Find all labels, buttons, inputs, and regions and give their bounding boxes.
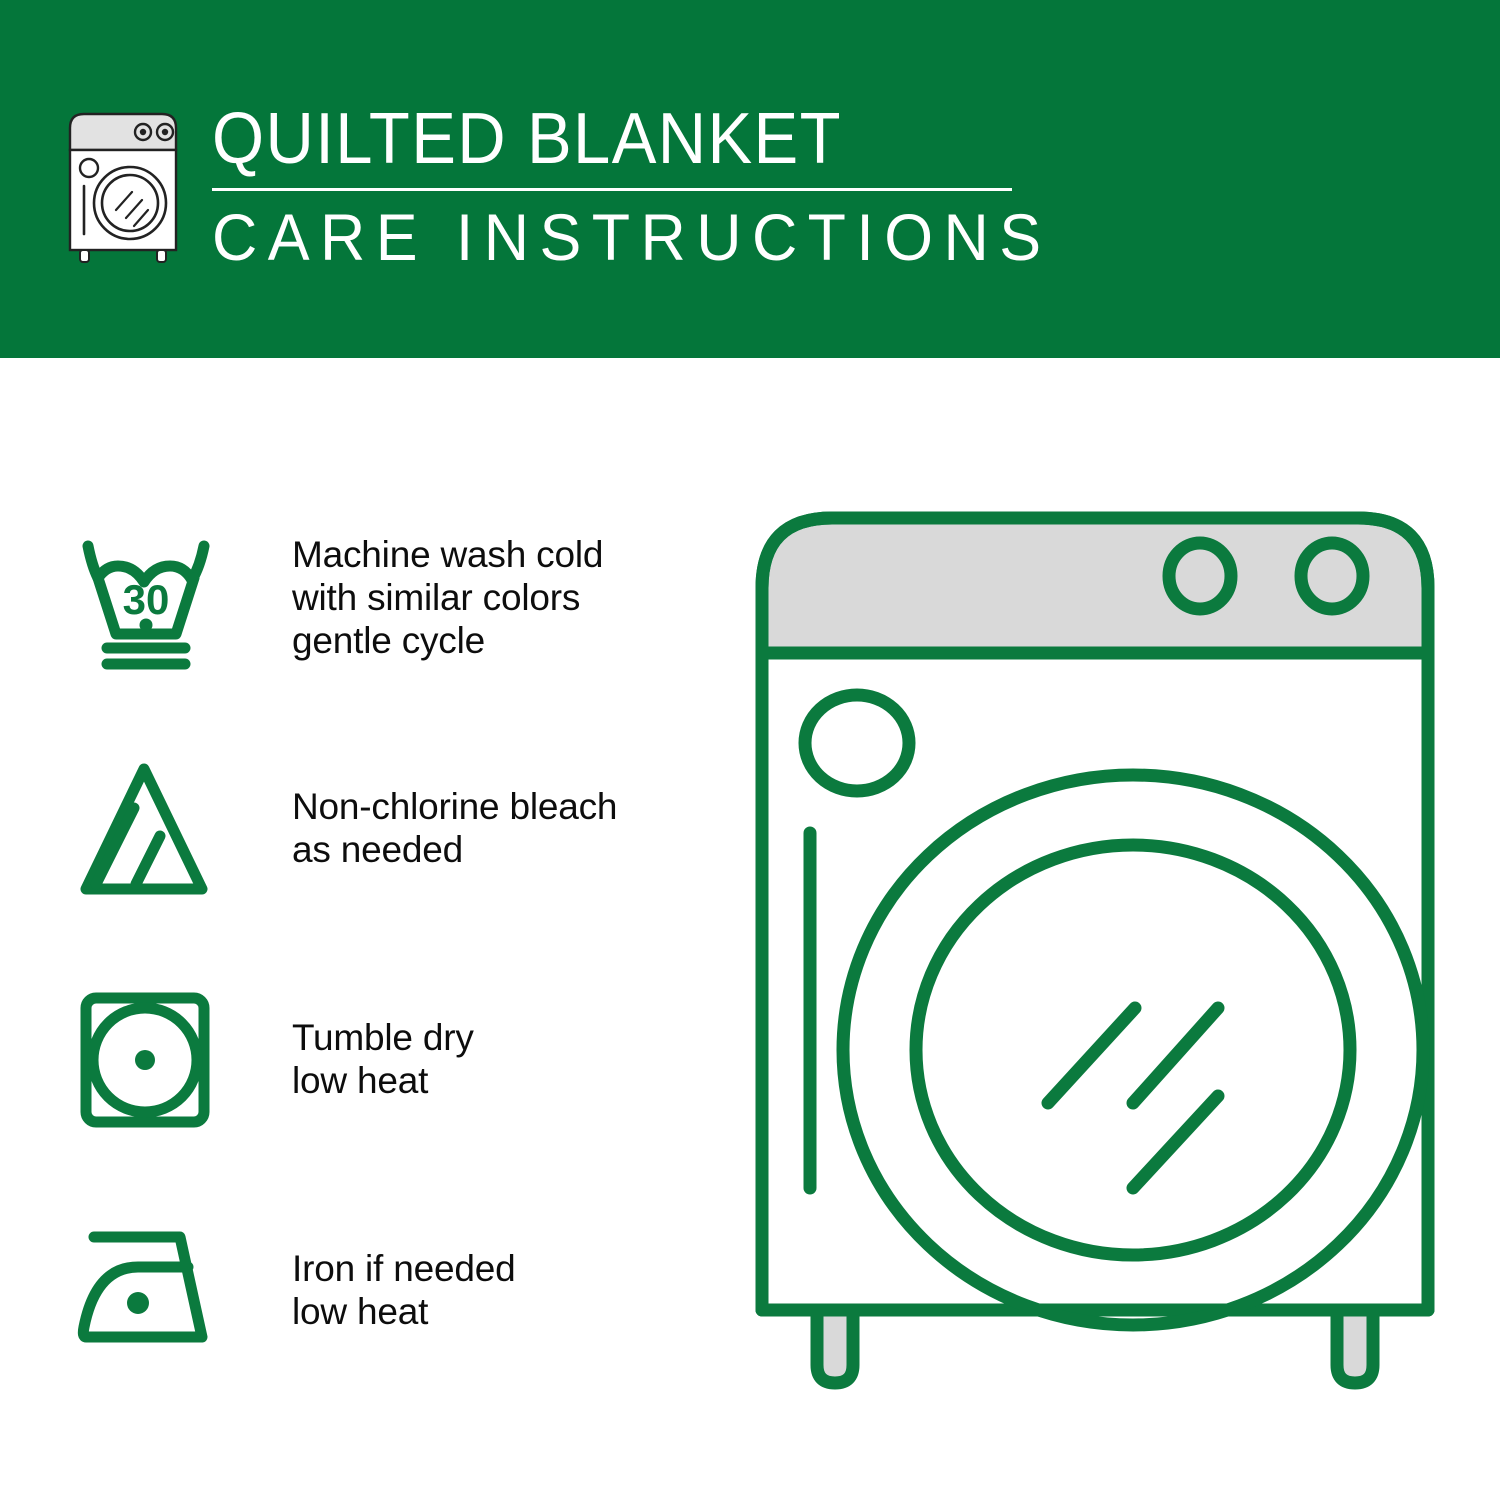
care-item-iron-label: Iron if needed low heat xyxy=(292,1247,515,1333)
wash-tub-30-icon: 30 xyxy=(72,522,240,672)
header-band: QUILTED BLANKET CARE INSTRUCTIONS xyxy=(0,0,1500,358)
care-item-tumble-dry: Tumble dry low heat xyxy=(72,970,712,1148)
leg-left xyxy=(817,1310,853,1383)
iron-icon xyxy=(72,1215,240,1365)
title-divider xyxy=(212,188,1012,191)
care-item-tumble-dry-label: Tumble dry low heat xyxy=(292,1016,474,1102)
header-titles: QUILTED BLANKET CARE INSTRUCTIONS xyxy=(212,100,1096,273)
bleach-triangle-icon xyxy=(72,753,240,903)
leg-right xyxy=(1337,1310,1373,1383)
care-item-bleach: Non-chlorine bleach as needed xyxy=(72,739,712,917)
wash-temperature-value: 30 xyxy=(123,576,170,623)
tumble-dry-icon xyxy=(72,984,240,1134)
care-symbol-list: 30 Machine wash cold with similar colors… xyxy=(72,508,712,1379)
care-item-bleach-label: Non-chlorine bleach as needed xyxy=(292,785,617,871)
washing-machine-illustration xyxy=(735,488,1455,1428)
care-item-wash: 30 Machine wash cold with similar colors… xyxy=(72,508,712,686)
page-subtitle: CARE INSTRUCTIONS xyxy=(212,201,1052,273)
cabinet-body xyxy=(762,653,1428,1310)
body-area: 30 Machine wash cold with similar colors… xyxy=(0,358,1500,1500)
care-item-wash-label: Machine wash cold with similar colors ge… xyxy=(292,533,603,662)
care-item-iron: Iron if needed low heat xyxy=(72,1201,712,1379)
header-content: QUILTED BLANKET CARE INSTRUCTIONS xyxy=(62,100,1096,273)
care-instructions-infographic: QUILTED BLANKET CARE INSTRUCTIONS xyxy=(0,0,1500,1500)
washing-machine-icon xyxy=(62,106,184,266)
page-title: QUILTED BLANKET xyxy=(212,100,1034,178)
